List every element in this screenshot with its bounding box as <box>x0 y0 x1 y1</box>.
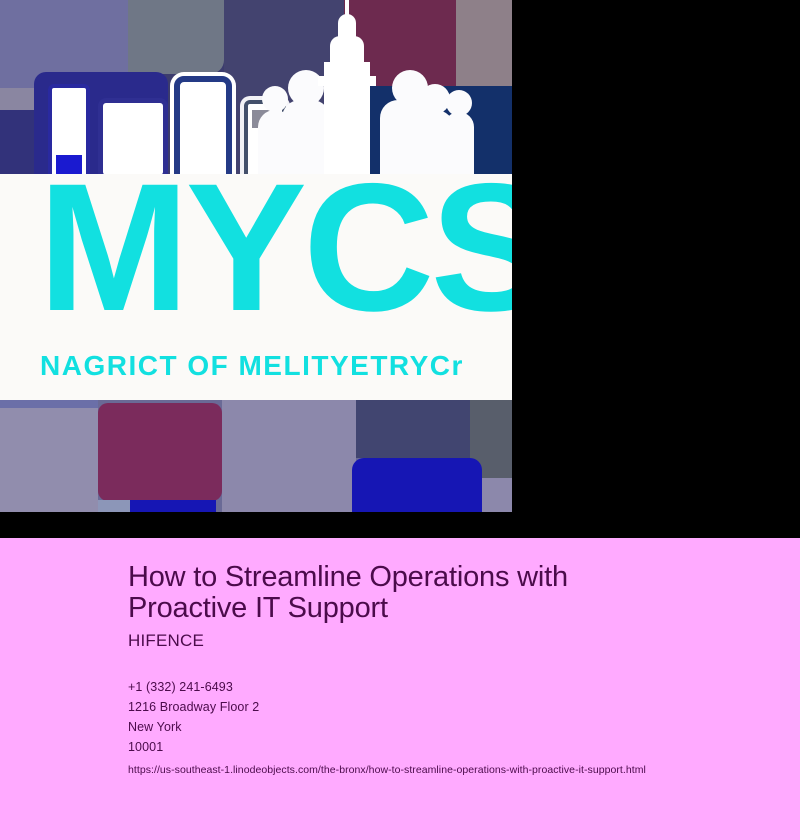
page-root: MYCS NAGRICT OF MELITYETRYCr How to Stre… <box>0 0 800 840</box>
company-name: HIFENCE <box>128 631 728 651</box>
article-info-panel: How to Streamline Operations with Proact… <box>0 538 800 840</box>
page-title: How to Streamline Operations with Proact… <box>128 562 648 625</box>
person-body-large-left <box>282 100 330 184</box>
contact-street: 1216 Broadway Floor 2 <box>128 697 728 717</box>
bottom-block-lavender-d <box>98 500 130 512</box>
bottom-block-blue-strip <box>130 500 216 512</box>
logo-wordmark: MYCS <box>38 174 512 338</box>
hero-image: MYCS NAGRICT OF MELITYETRYCr <box>0 0 512 512</box>
city-tower-base <box>324 62 370 182</box>
bottom-block-divider-line <box>0 400 98 408</box>
contact-city: New York <box>128 717 728 737</box>
logo-banner: MYCS NAGRICT OF MELITYETRYCr <box>0 174 512 400</box>
bottom-block-blue <box>352 458 482 512</box>
bottom-block-lavender-b <box>222 400 356 512</box>
logo-tagline: NAGRICT OF MELITYETRYCr <box>40 350 464 382</box>
device-tablet-icon <box>98 98 168 180</box>
bottom-block-lavender-a <box>0 400 98 512</box>
article-info-content: How to Streamline Operations with Proact… <box>128 562 728 776</box>
contact-zip: 10001 <box>128 737 728 757</box>
device-phone-icon <box>174 76 232 184</box>
contact-block: +1 (332) 241-6493 1216 Broadway Floor 2 … <box>128 677 728 776</box>
article-url[interactable]: https://us-southeast-1.linodeobjects.com… <box>128 764 728 776</box>
bottom-block-plum <box>98 403 222 501</box>
bottom-block-navy <box>356 400 470 458</box>
contact-phone: +1 (332) 241-6493 <box>128 677 728 697</box>
bg-block-gray <box>128 0 224 74</box>
